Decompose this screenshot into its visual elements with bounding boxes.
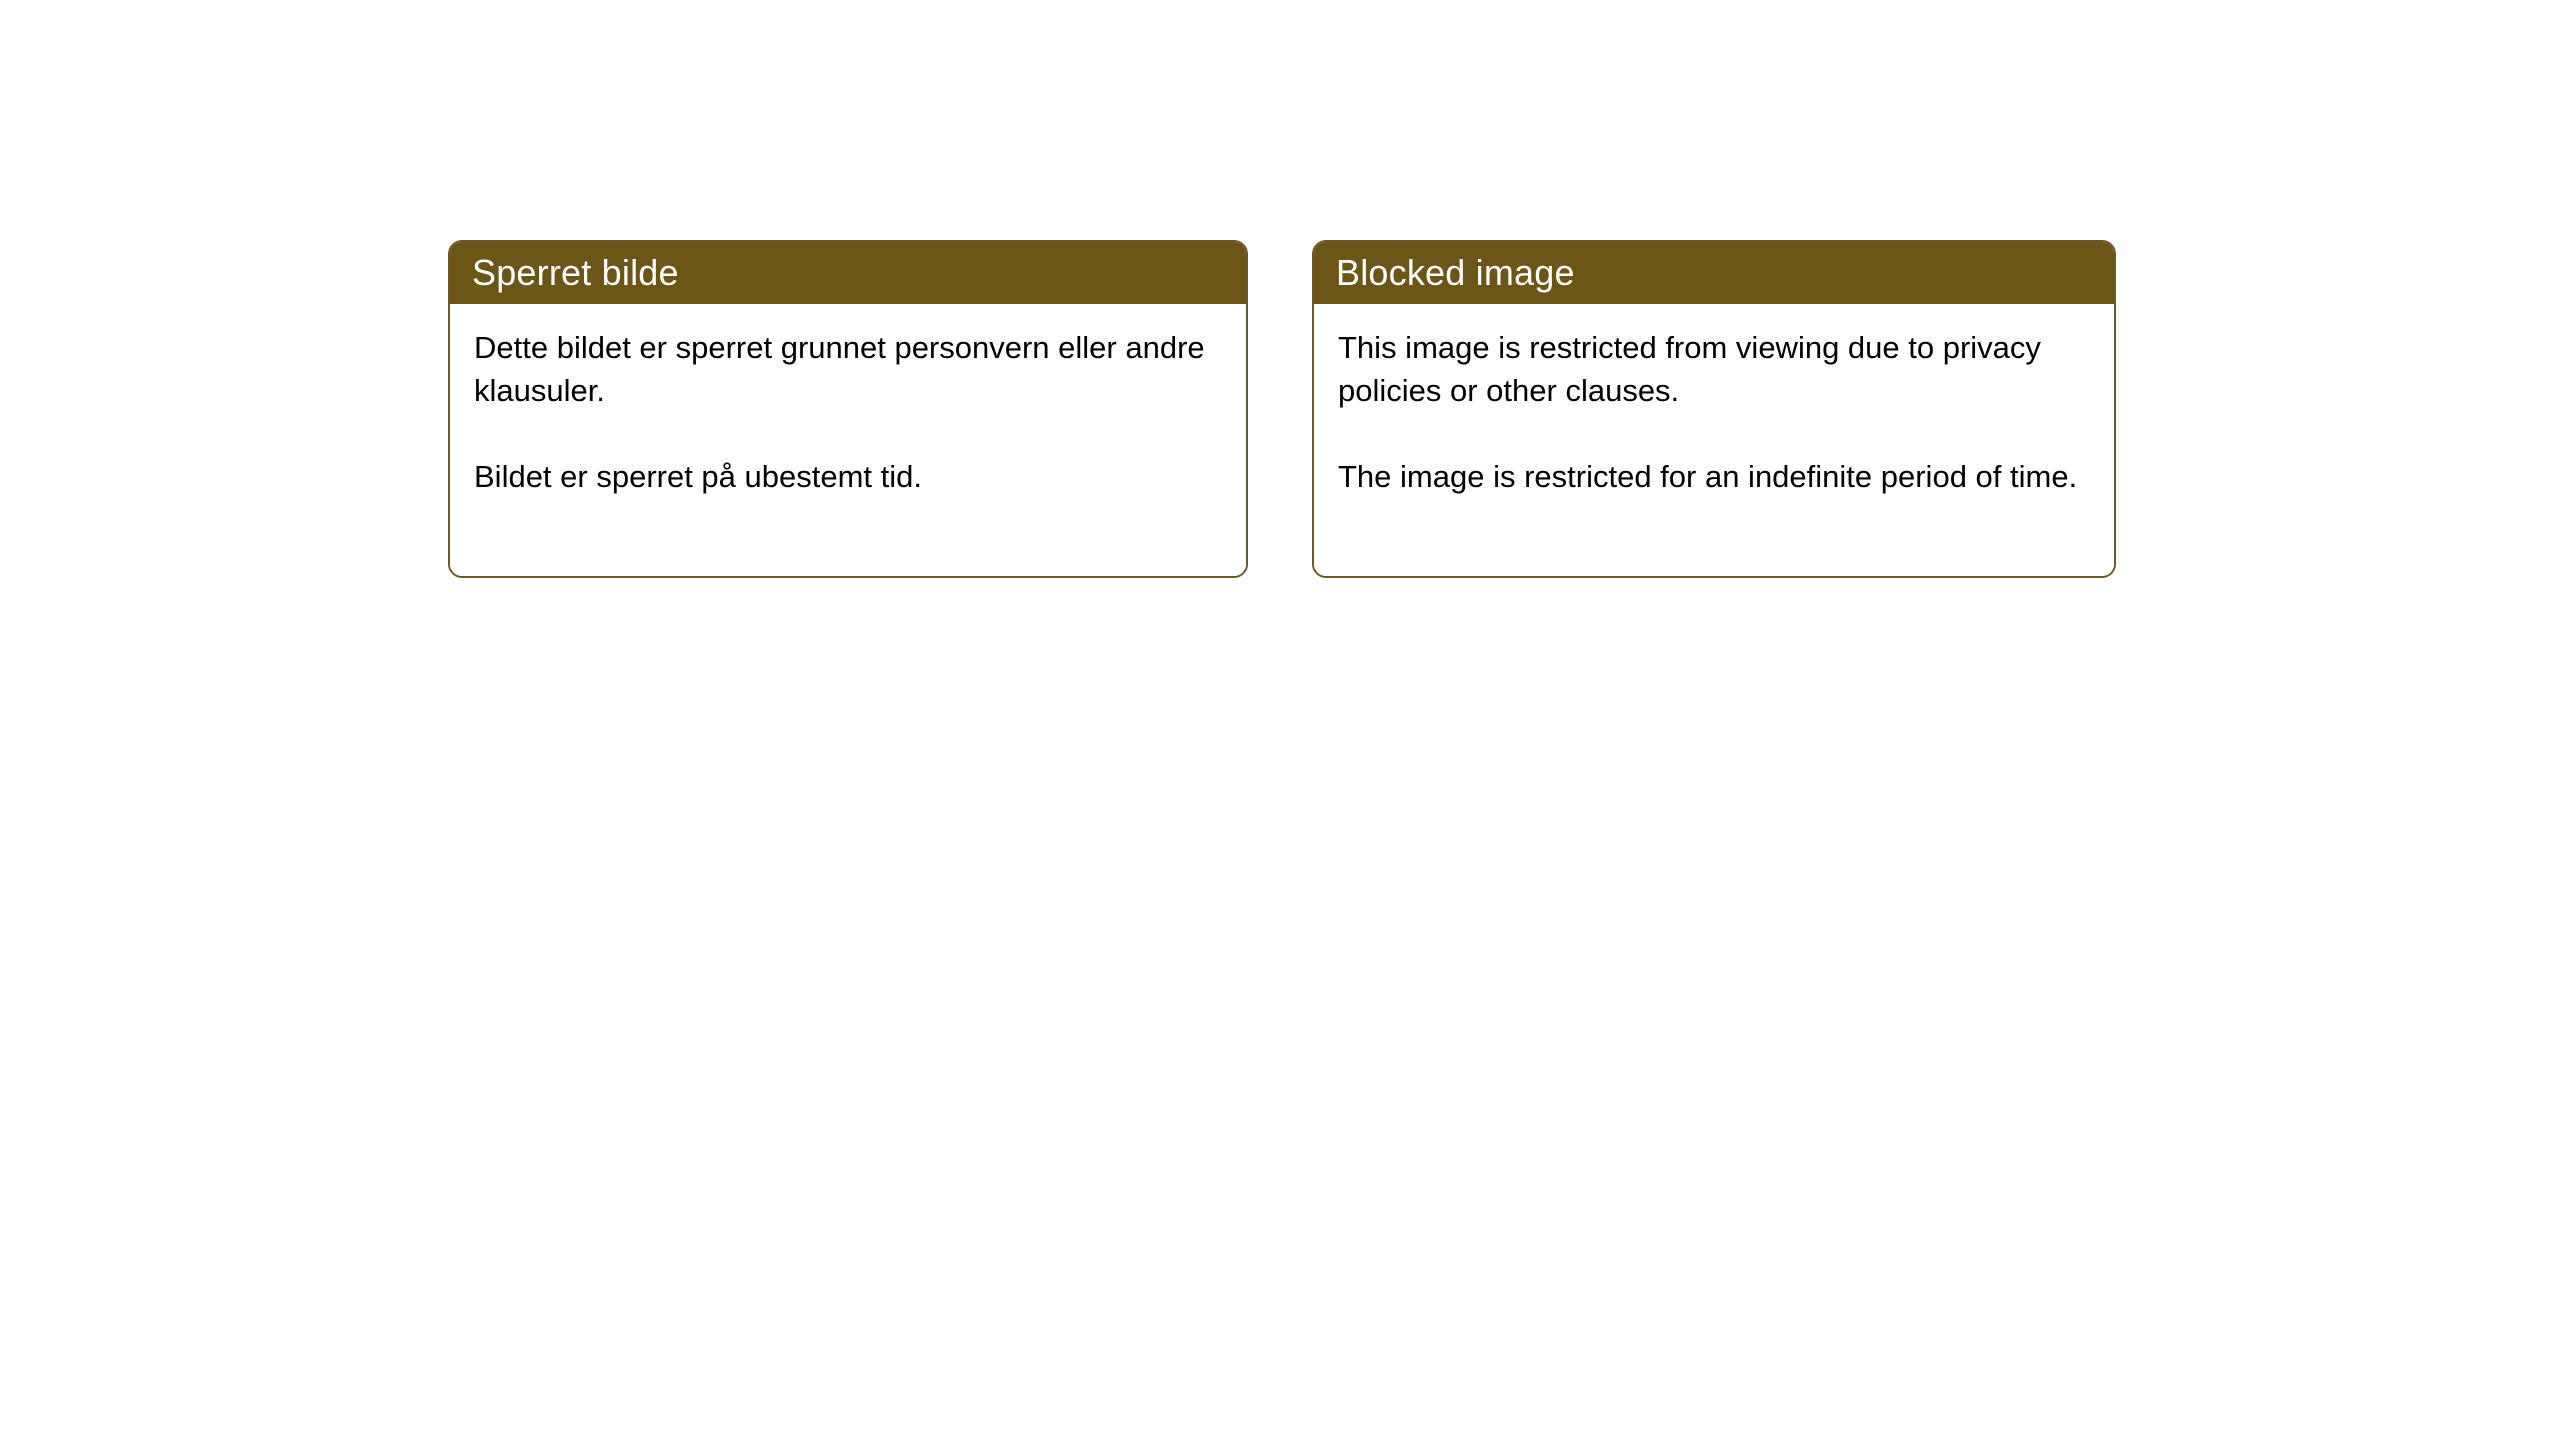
blocked-image-card-english: Blocked image This image is restricted f… — [1312, 240, 2116, 578]
card-paragraph-secondary-english: The image is restricted for an indefinit… — [1338, 455, 2090, 498]
blocked-image-card-norwegian: Sperret bilde Dette bildet er sperret gr… — [448, 240, 1248, 578]
card-header-english: Blocked image — [1314, 242, 2114, 304]
blocked-image-notices: Sperret bilde Dette bildet er sperret gr… — [448, 240, 2116, 578]
card-paragraph-primary-norwegian: Dette bildet er sperret grunnet personve… — [474, 326, 1222, 412]
card-body-norwegian: Dette bildet er sperret grunnet personve… — [450, 304, 1246, 576]
card-header-norwegian: Sperret bilde — [450, 242, 1246, 304]
card-paragraph-secondary-norwegian: Bildet er sperret på ubestemt tid. — [474, 455, 1222, 498]
card-title-english: Blocked image — [1336, 255, 1575, 291]
card-title-norwegian: Sperret bilde — [472, 255, 679, 291]
card-paragraph-primary-english: This image is restricted from viewing du… — [1338, 326, 2090, 412]
card-body-english: This image is restricted from viewing du… — [1314, 304, 2114, 576]
